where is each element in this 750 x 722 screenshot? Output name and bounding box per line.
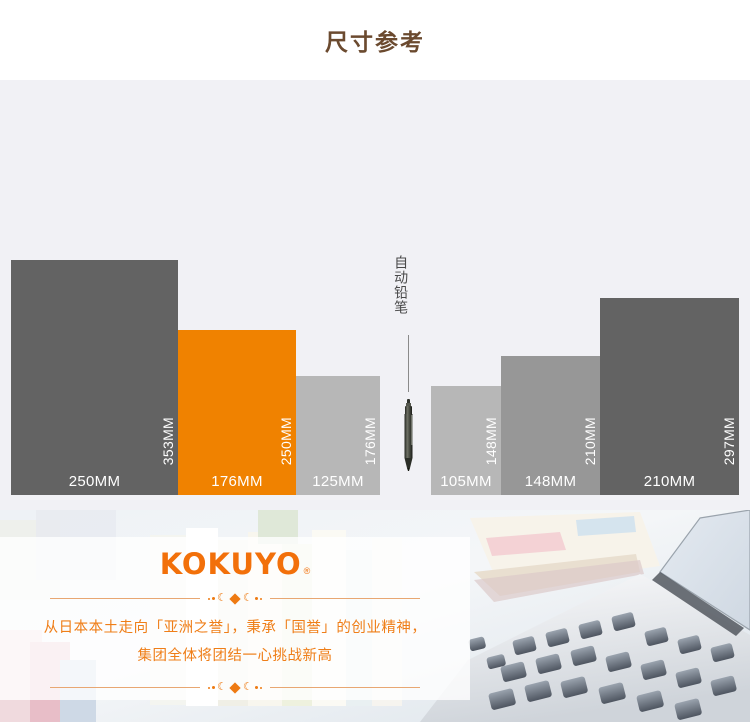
slogan-line-1: 从日本本土走向「亚洲之誉」，秉承「国誉」的创业精神， (44, 615, 427, 643)
ornament-icon: ☾☾ (200, 593, 270, 604)
bar-width-label: 176MM (178, 473, 296, 490)
divider-rule-right (270, 598, 420, 599)
banner-slogan: 从日本本土走向「亚洲之誉」，秉承「国誉」的创业精神， 集团全体将团结一心挑战新高 (44, 615, 427, 670)
page-title: 尺寸参考 (325, 23, 425, 57)
bar-width-label: 148MM (501, 473, 600, 490)
slogan-line-2: 集团全体将团结一心挑战新高 (44, 643, 427, 671)
bar-width-label: 250MM (11, 473, 178, 490)
bar-width-label: 210MM (600, 473, 739, 490)
bar-b4: 353MM250MM (11, 260, 178, 495)
kokuyo-logo: KOKUYO ® (160, 550, 311, 579)
kokuyo-logo-text: KOKUYO (160, 550, 302, 579)
size-reference-page: 尺寸参考 353MM250MMB4250MM176MMB5176MM125MMB… (0, 0, 750, 722)
chart-plot-area: 353MM250MMB4250MM176MMB5176MM125MMB6148M… (0, 80, 750, 510)
bar-width-label: 125MM (296, 473, 380, 490)
divider-rule-left (50, 598, 200, 599)
ornament-icon: ☾☾ (200, 682, 270, 693)
mechanical-pencil-annotation: 自动铅笔 (390, 255, 430, 495)
ornament-divider-top: ☾☾ (50, 593, 420, 604)
pencil-icon (402, 399, 415, 471)
ornament-divider-bottom: ☾☾ (50, 682, 420, 693)
pencil-leader-line (408, 335, 409, 392)
divider-rule-right (270, 687, 420, 688)
bar-height-label: 148MM (483, 417, 499, 465)
brand-banner: KOKUYO ® ☾☾ 从日本本土走向「亚洲之誉」，秉承「国誉」的创业精神， 集… (0, 510, 750, 722)
bar-width-label: 105MM (431, 473, 501, 490)
bar-height-label: 176MM (362, 417, 378, 465)
bar-height-label: 210MM (582, 417, 598, 465)
bar-height-label: 250MM (278, 417, 294, 465)
bar-a4: 297MM210MM (600, 298, 739, 495)
bar-b5: 250MM176MM (178, 330, 296, 495)
page-title-band: 尺寸参考 (0, 0, 750, 80)
bar-height-label: 353MM (160, 417, 176, 465)
bar-b6: 176MM125MM (296, 376, 380, 495)
bar-height-label: 297MM (721, 417, 737, 465)
banner-content: KOKUYO ® ☾☾ 从日本本土走向「亚洲之誉」，秉承「国誉」的创业精神， 集… (0, 537, 470, 700)
pencil-caption: 自动铅笔 (392, 255, 408, 315)
bar-a6: 148MM105MM (431, 386, 501, 495)
registered-trademark-icon: ® (304, 566, 311, 576)
divider-rule-left (50, 687, 200, 688)
size-comparison-chart: 353MM250MMB4250MM176MMB5176MM125MMB6148M… (0, 80, 750, 510)
bar-a5: 210MM148MM (501, 356, 600, 495)
